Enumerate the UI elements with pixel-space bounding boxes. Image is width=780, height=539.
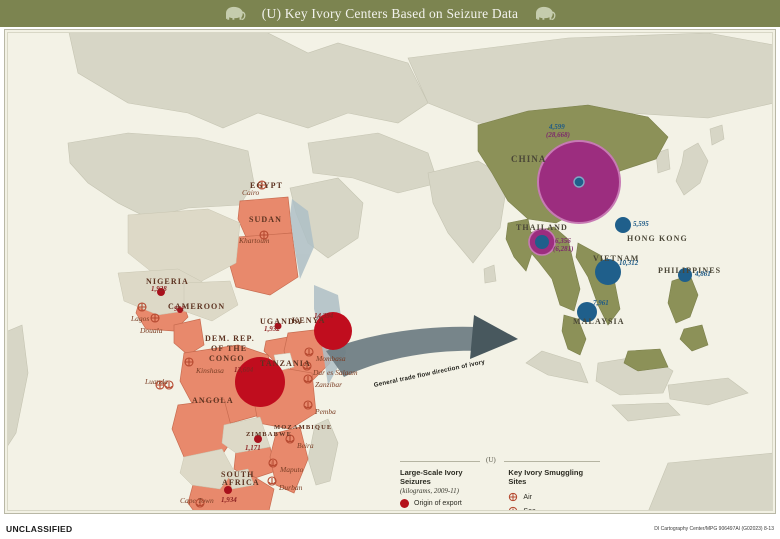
elephant-icon	[532, 5, 558, 23]
seizure-circle-zimbabwe[interactable]	[254, 435, 262, 443]
seizure-circle-hong-kong[interactable]	[615, 217, 631, 233]
page-title: (U) Key Ivory Centers Based on Seizure D…	[262, 6, 518, 22]
seizure-circle-tanzania[interactable]	[235, 357, 285, 407]
seizure-inner-china	[574, 177, 584, 187]
legend-seizures: Large-Scale Ivory Seizures (kilograms, 2…	[400, 468, 492, 511]
legend-smuggling-title: Key Ivory Smuggling Sites	[508, 468, 600, 486]
legend-seizures-title: Large-Scale Ivory Seizures	[400, 468, 492, 486]
airport-icon	[138, 303, 146, 311]
seizure-circle-kenya[interactable]	[314, 312, 352, 350]
title-bar: (U) Key Ivory Centers Based on Seizure D…	[0, 0, 780, 27]
legend-label-origin: Origin of export	[414, 500, 462, 507]
seizure-circle-nigeria[interactable]	[157, 288, 165, 296]
legend-item-sea[interactable]: Sea	[508, 506, 600, 511]
legend-item-origin[interactable]: Origin of export	[400, 499, 492, 508]
legend-seizures-subtitle: (kilograms, 2009-11)	[400, 487, 492, 495]
legend-label-air: Air	[523, 494, 532, 501]
anchor-icon	[508, 506, 518, 511]
airport-icon	[156, 381, 164, 389]
map-frame: EGYPT SUDAN NIGERIA CAMEROON DEM. REP. O…	[4, 29, 776, 514]
airport-icon	[260, 231, 268, 239]
legend: (U) Large-Scale Ivory Seizures (kilogram…	[400, 456, 600, 511]
legend-divider: (U)	[400, 456, 600, 466]
elephant-icon	[222, 5, 248, 23]
seizure-circle-malaysia[interactable]	[577, 302, 597, 322]
ivory-map-page: (U) Key Ivory Centers Based on Seizure D…	[0, 0, 780, 539]
legend-classification: (U)	[486, 456, 496, 464]
legend-item-air[interactable]: Air	[508, 492, 600, 502]
red-circle-icon	[400, 499, 409, 508]
legend-label-sea: Sea	[523, 508, 535, 512]
airport-icon	[258, 181, 266, 189]
seizure-circle-south-africa[interactable]	[224, 486, 232, 494]
classification-banner: UNCLASSIFIED	[6, 524, 72, 534]
legend-smuggling: Key Ivory Smuggling Sites Air S	[508, 468, 600, 511]
seizure-circle-cameroon[interactable]	[177, 307, 183, 313]
credit-line: DI Cartography Center/MPG 906497AI (G020…	[654, 526, 774, 532]
map-geometry	[8, 33, 773, 511]
seizure-circle-philippines[interactable]	[678, 268, 692, 282]
seizure-inner-thailand	[535, 235, 549, 249]
airport-icon	[508, 492, 518, 502]
airport-icon	[185, 358, 193, 366]
map-canvas[interactable]: EGYPT SUDAN NIGERIA CAMEROON DEM. REP. O…	[7, 32, 773, 511]
airport-icon	[151, 314, 159, 322]
seizure-circle-uganda[interactable]	[275, 323, 282, 330]
seizure-circle-vietnam[interactable]	[595, 259, 621, 285]
